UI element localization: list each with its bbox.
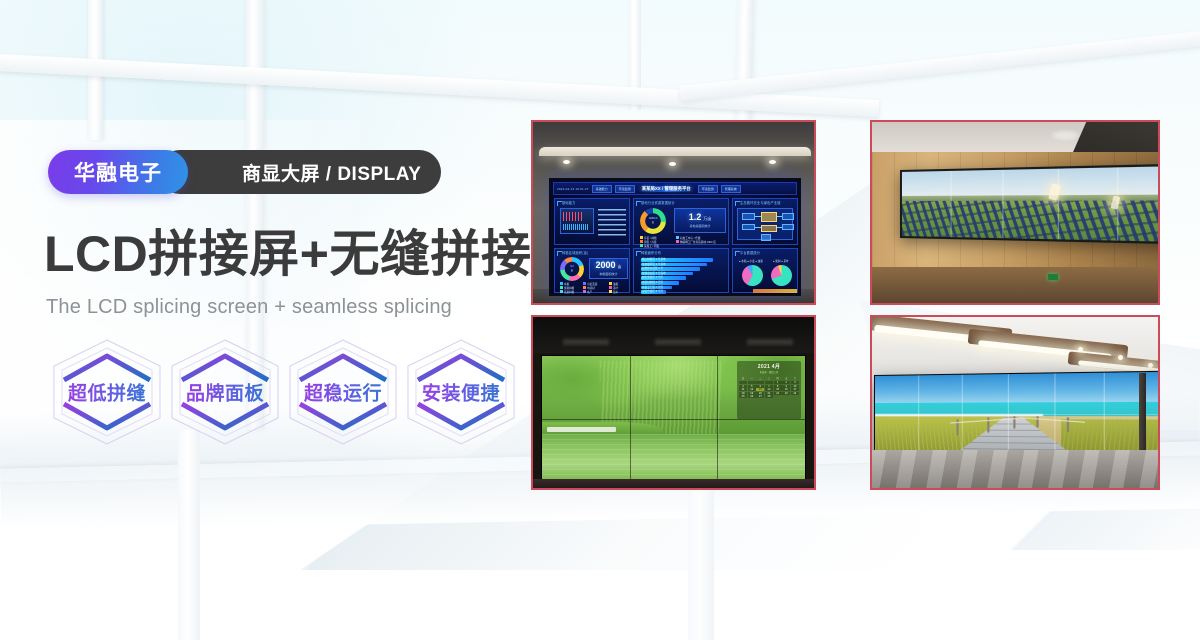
stat-value: 2000	[595, 261, 615, 270]
calendar-day[interactable]: 2	[782, 381, 790, 384]
dashboard-tab-2[interactable]: 环境监测	[615, 185, 635, 193]
calendar-dow: 二	[756, 376, 764, 380]
solar-video-wall-screen	[900, 164, 1158, 245]
calendar-widget: 2021 4月 辛丑年 · 农历三月 日 一 二 三 四 五 六	[737, 361, 801, 419]
left-content: 商显大屏 / DISPLAY 华融电子 LCD拼接屏+无缝拼接 The LCD …	[0, 0, 520, 640]
calendar-day[interactable]: 3	[791, 381, 799, 384]
calendar-dow: 五	[782, 376, 790, 380]
bar-label: 智慧农业区 4 号基地	[642, 272, 666, 276]
calendar-subtitle: 辛丑年 · 农历三月	[739, 370, 799, 374]
bar-label: 冷链仓储区 8 号区	[642, 290, 663, 294]
dashboard-tab-1[interactable]: 基础能力	[592, 185, 612, 193]
stat-planting-count: 2000 亩 种植面积统计	[589, 258, 628, 279]
page-title: LCD拼接屏+无缝拼接	[44, 228, 531, 281]
calendar-day[interactable]: 25	[739, 395, 747, 398]
calendar-day[interactable]: 14	[765, 388, 773, 391]
background-beam-2	[679, 28, 1200, 101]
dashboard-panel-resource: 基地行业资源数据统计 12000.0亩 1.2 万亩 基地总面积统计	[633, 198, 729, 245]
photo-willow-lake-video-wall: 2021 4月 辛丑年 · 农历三月 日 一 二 三 四 五 六	[531, 315, 816, 490]
dashboard-tab-3[interactable]: 环境监测	[698, 185, 718, 193]
feature-item-2: 品牌面板	[166, 336, 284, 448]
calendar-day-selected[interactable]: 13	[756, 388, 764, 391]
calendar-day[interactable]: 16	[782, 388, 790, 391]
calendar-day[interactable]: 11	[739, 388, 747, 391]
panel-header: 基础能力	[562, 200, 576, 205]
page-subtitle: The LCD splicing screen + seamless splic…	[46, 296, 452, 319]
feature-label: 超低拼缝	[48, 379, 166, 406]
photo-dashboard-video-wall: 2021-04-13 16:01:27 基础能力 环境监测 某某局XX / 管理…	[531, 120, 816, 305]
calendar-days-grid: 1 2 3 4 5 6 7 8 9 10 11 12 13	[739, 381, 799, 398]
beach-video-wall-screen	[874, 371, 1158, 458]
legend-entry: 水产	[587, 290, 592, 294]
calendar-day[interactable]: 23	[782, 392, 790, 395]
legend-entry: 深加工 / 研发	[644, 244, 659, 248]
stat-caption: 种植面积统计	[599, 272, 617, 276]
dashboard-panel-distribution: 种植面积分布 核心种植区 1 号基地 生态循环区 2 号基地 标准化示范区 3 …	[633, 248, 729, 293]
dashboard-panel-area: 种植区域面积(亩) 9.2亩 2000 亩 种植面积统计	[554, 248, 630, 293]
legend-entry: 蔬菜种植	[564, 290, 574, 294]
legend-entry: 物联网工厂化育苗基地 1000 亩	[680, 240, 716, 244]
panel-header: 生态循环农业与绿色产业链	[740, 200, 781, 205]
bar-label: 中药材种植 6 号区	[642, 281, 663, 285]
calendar-dow-row: 日 一 二 三 四 五 六	[739, 376, 799, 380]
bar-label: 育苗工厂区 7 号区	[642, 286, 663, 290]
feature-list: 超低拼缝 品牌面板	[48, 336, 520, 448]
feature-label: 安装便捷	[402, 379, 520, 406]
calendar-day[interactable]: 27	[756, 395, 764, 398]
bar-label: 生态循环区 2 号基地	[642, 263, 666, 267]
feature-item-4: 安装便捷	[402, 336, 520, 448]
calendar-day[interactable]	[748, 381, 756, 384]
calendar-day[interactable]: 12	[748, 388, 756, 391]
calendar-day[interactable]: 24	[791, 392, 799, 395]
calendar-dow: 四	[774, 376, 782, 380]
banner-root: 商显大屏 / DISPLAY 华融电子 LCD拼接屏+无缝拼接 The LCD …	[0, 0, 1200, 640]
calendar-dow: 三	[765, 376, 773, 380]
calendar-title: 2021 4月	[739, 363, 799, 370]
feature-item-1: 超低拼缝	[48, 336, 166, 448]
photo-beach-boardwalk-video-wall	[870, 315, 1160, 490]
background-pillar-3	[628, 0, 641, 110]
brand-badge: 商显大屏 / DISPLAY 华融电子	[48, 150, 188, 194]
panel-header: 基地行业资源数据统计	[641, 200, 675, 205]
panel-header: 平台数据统计	[740, 250, 760, 255]
brand-name-pill: 华融电子	[48, 150, 188, 194]
pie-chart-left	[742, 265, 763, 286]
dashboard-screen: 2021-04-13 16:01:27 基础能力 环境监测 某某局XX / 管理…	[549, 178, 801, 296]
calendar-dow: 日	[739, 376, 747, 380]
pie-chart-right	[771, 265, 792, 286]
calendar-day[interactable]	[756, 381, 764, 384]
panel-header: 种植区域面积(亩)	[562, 250, 588, 255]
calendar-day[interactable]	[739, 381, 747, 384]
lake-video-wall-screen: 2021 4月 辛丑年 · 农历三月 日 一 二 三 四 五 六	[541, 355, 806, 483]
stat-value: 1.2	[689, 213, 702, 222]
calendar-dow: 六	[791, 376, 799, 380]
calendar-day[interactable]: 22	[774, 392, 782, 395]
photo-solar-farm-video-wall	[870, 120, 1160, 305]
dashboard-title: 某某局XX / 管理服务平台	[638, 186, 695, 192]
bar-label: 核心种植区 1 号基地	[642, 258, 666, 262]
stat-unit: 亩	[618, 264, 622, 270]
calendar-dow: 一	[748, 376, 756, 380]
calendar-day[interactable]: 1	[774, 381, 782, 384]
dashboard-panel-stats: 平台数据统计 ● 水稻 ● 小麦 ● 油菜 ● 果树 ● 茶叶	[732, 248, 798, 293]
bar-label: 标准化示范区 3 号	[642, 267, 663, 271]
panel-header: 种植面积分布	[641, 250, 661, 255]
dashboard-topbar: 2021-04-13 16:01:27 基础能力 环境监测 某某局XX / 管理…	[553, 182, 797, 195]
feature-label: 超稳运行	[284, 379, 402, 406]
dashboard-tab-4[interactable]: 管理系统	[721, 185, 741, 193]
calendar-day[interactable]: 17	[791, 388, 799, 391]
bar-label: 绿色果蔬区 5 号区	[642, 276, 663, 280]
calendar-day[interactable]: 15	[774, 388, 782, 391]
calendar-day[interactable]	[765, 381, 773, 384]
stat-caption: 基地总面积统计	[689, 224, 710, 228]
calendar-day[interactable]: 28	[765, 395, 773, 398]
stat-total-area: 1.2 万亩 基地总面积统计	[674, 208, 726, 233]
calendar-day[interactable]: 26	[748, 395, 756, 398]
dashboard-panel-ecochain: 生态循环农业与绿色产业链	[732, 198, 798, 245]
dashboard-date: 2021-04-13 16:01:27	[557, 187, 589, 191]
legend-entry: 苗木	[613, 290, 618, 294]
feature-item-3: 超稳运行	[284, 336, 402, 448]
category-label: 商显大屏 / DISPLAY	[158, 150, 441, 194]
stat-unit: 万亩	[703, 216, 711, 222]
feature-label: 品牌面板	[166, 379, 284, 406]
product-photo-grid: 2021-04-13 16:01:27 基础能力 环境监测 某某局XX / 管理…	[531, 120, 1160, 490]
dashboard-panel-capability: 基础能力	[554, 198, 630, 245]
